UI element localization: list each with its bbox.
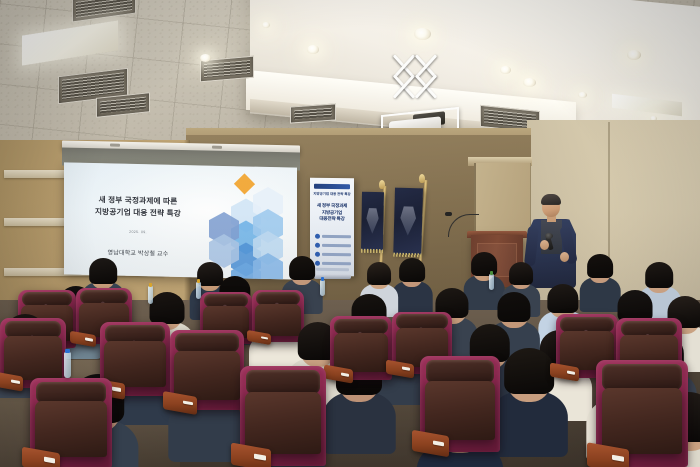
downlight-icon	[200, 54, 211, 62]
seat-back-panel	[4, 336, 62, 379]
water-bottle[interactable]	[148, 286, 153, 304]
downlight-icon	[500, 66, 511, 74]
banner-bullet-rows	[315, 234, 351, 271]
presenter-hand-mic	[540, 240, 549, 250]
seat-number-label	[11, 379, 20, 384]
water-bottle[interactable]	[320, 280, 325, 296]
audience-hair	[645, 262, 673, 288]
audience-member	[502, 348, 556, 462]
seat-headrest	[36, 382, 107, 404]
banner-bullet-icon	[315, 243, 320, 248]
seat-number-label	[566, 370, 575, 375]
ceremonial-flag-right	[393, 188, 423, 255]
audience-hair	[497, 292, 530, 322]
banner-footer-bar	[316, 268, 349, 271]
banner-bullet-icon	[315, 234, 320, 239]
seat-number-label	[182, 400, 192, 406]
audience-hair	[504, 348, 554, 394]
seat-number-label	[340, 372, 349, 377]
seat-number-label	[611, 454, 624, 461]
seat-back-panel	[104, 341, 166, 387]
bottle-cap	[149, 283, 152, 287]
seat-number-label	[254, 454, 266, 461]
seat-back-panel	[334, 333, 389, 373]
seat-back-panel	[602, 388, 683, 454]
seat-number-label	[433, 440, 444, 447]
flag-finial-left	[379, 180, 385, 189]
presenter-hand-gesture	[560, 252, 569, 262]
banner-bullet-text	[322, 253, 351, 256]
bottle-cap	[321, 277, 324, 281]
banner-title-line1: 새 정부 국정과제	[313, 203, 351, 210]
banner-bullet-row	[315, 261, 351, 267]
seat-number-label	[112, 387, 122, 392]
seat-back-panel	[174, 351, 239, 401]
banner-bullet-row	[315, 252, 351, 258]
banner-bullet-row	[315, 234, 351, 240]
bottle-cap	[490, 271, 493, 275]
ceremonial-flag-left	[361, 192, 384, 250]
banner-bullet-row	[315, 243, 351, 249]
water-bottle[interactable]	[64, 352, 71, 378]
banner-stand-base	[314, 274, 351, 279]
flag-finial-right	[419, 174, 425, 183]
downlight-icon	[627, 50, 641, 60]
seat-number-label	[44, 457, 55, 463]
roll-up-banner: 지방공기업 대응 전략 특강 새 정부 국정과제 지방공기업 대응전략 특강	[310, 178, 354, 277]
slide-title: 새 정부 국정과제에 따른 지방공기업 대응 전략 특강	[78, 194, 198, 221]
downlight-icon	[307, 45, 319, 54]
audience-hair	[509, 262, 533, 285]
banner-title-line3: 대응전략 특강	[313, 216, 351, 223]
banner-bullet-text	[322, 235, 351, 238]
seat-back-panel	[245, 392, 321, 454]
banner-bullet-text	[322, 244, 351, 247]
banner-header-label: 지방공기업 대응 전략 특강	[313, 192, 351, 198]
slide-diamond-accent	[234, 173, 255, 194]
seat-number-label	[85, 337, 93, 341]
lecture-hall-photo: 새 정부 국정과제에 따른 지방공기업 대응 전략 특강 2025. 09. 영…	[0, 0, 700, 467]
microphone-head	[545, 233, 553, 239]
seat-back-panel	[425, 381, 495, 441]
audience-hair	[150, 292, 185, 324]
bottle-cap	[65, 349, 69, 353]
seat-headrest	[246, 370, 320, 394]
seat-back-panel	[255, 304, 301, 336]
seat-number-label	[261, 336, 268, 340]
seat-headrest	[602, 364, 681, 390]
banner-bullet-text	[322, 262, 351, 265]
hvac-vent-icon	[290, 103, 336, 123]
audience-hair	[587, 254, 613, 278]
seat-back-panel	[35, 401, 107, 457]
banner-title: 새 정부 국정과제 지방공기업 대응전략 특강	[313, 203, 351, 223]
seat-headrest	[175, 333, 239, 352]
water-bottle[interactable]	[489, 274, 494, 290]
seat-number-label	[402, 366, 410, 370]
audience-member	[586, 254, 614, 315]
audience-hair	[367, 262, 391, 285]
audience-hair	[399, 258, 425, 282]
bottle-cap	[197, 279, 200, 283]
downlight-icon	[262, 22, 270, 28]
presenter-glasses	[544, 204, 559, 209]
water-bottle[interactable]	[196, 282, 201, 299]
audience-hair	[89, 258, 117, 284]
audience-hair	[547, 284, 578, 313]
audience-member	[398, 258, 426, 319]
audience-hair	[289, 256, 315, 280]
seat-headrest	[426, 360, 495, 383]
banner-header-bar	[314, 184, 350, 190]
